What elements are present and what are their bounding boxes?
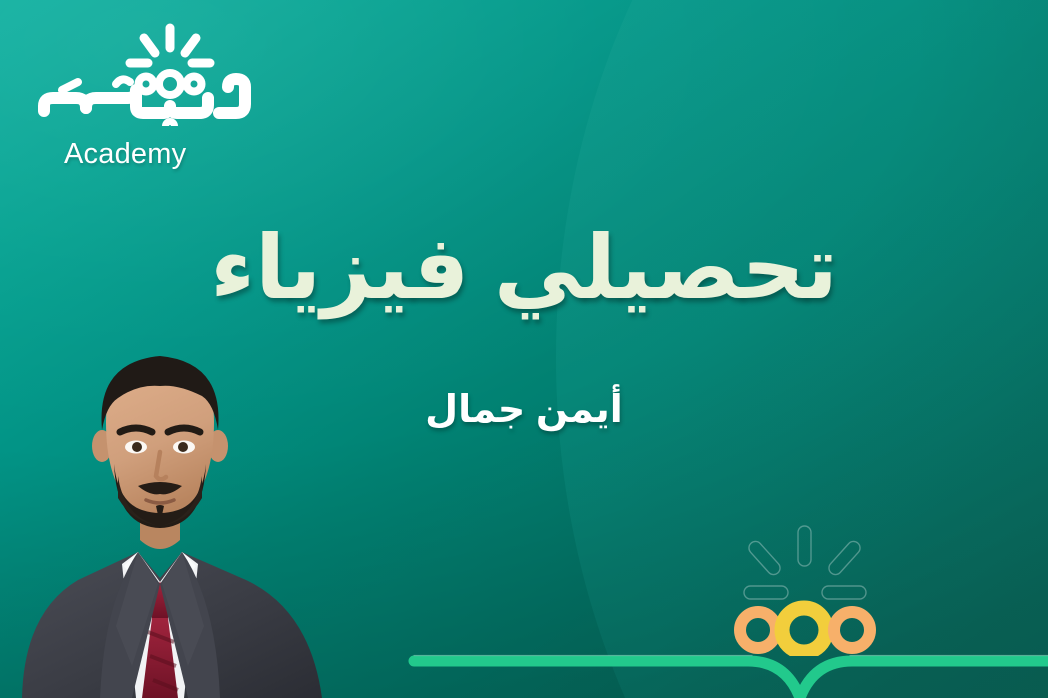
albayan-academy-logo-icon (24, 14, 292, 126)
brand-logo[interactable]: Academy (24, 14, 292, 162)
course-title: تحصيلي فيزياء (0, 218, 1048, 318)
brand-wordmark-latin: Academy (64, 140, 186, 169)
motif-dot-left (740, 612, 776, 648)
motif-dot-center (782, 608, 826, 652)
sunburst-motif-icon (706, 524, 902, 656)
motif-dot-right (834, 612, 870, 648)
logo-dot-below (166, 122, 175, 127)
instructor-portrait-illustration (0, 326, 384, 698)
logo-dot-center (159, 73, 181, 95)
title-slide: Academy تحصيلي فيزياء أيمن جمال (0, 0, 1048, 698)
logo-dot-right (187, 77, 202, 92)
logo-sunburst-motif (706, 524, 902, 656)
instructor-portrait (0, 326, 384, 698)
